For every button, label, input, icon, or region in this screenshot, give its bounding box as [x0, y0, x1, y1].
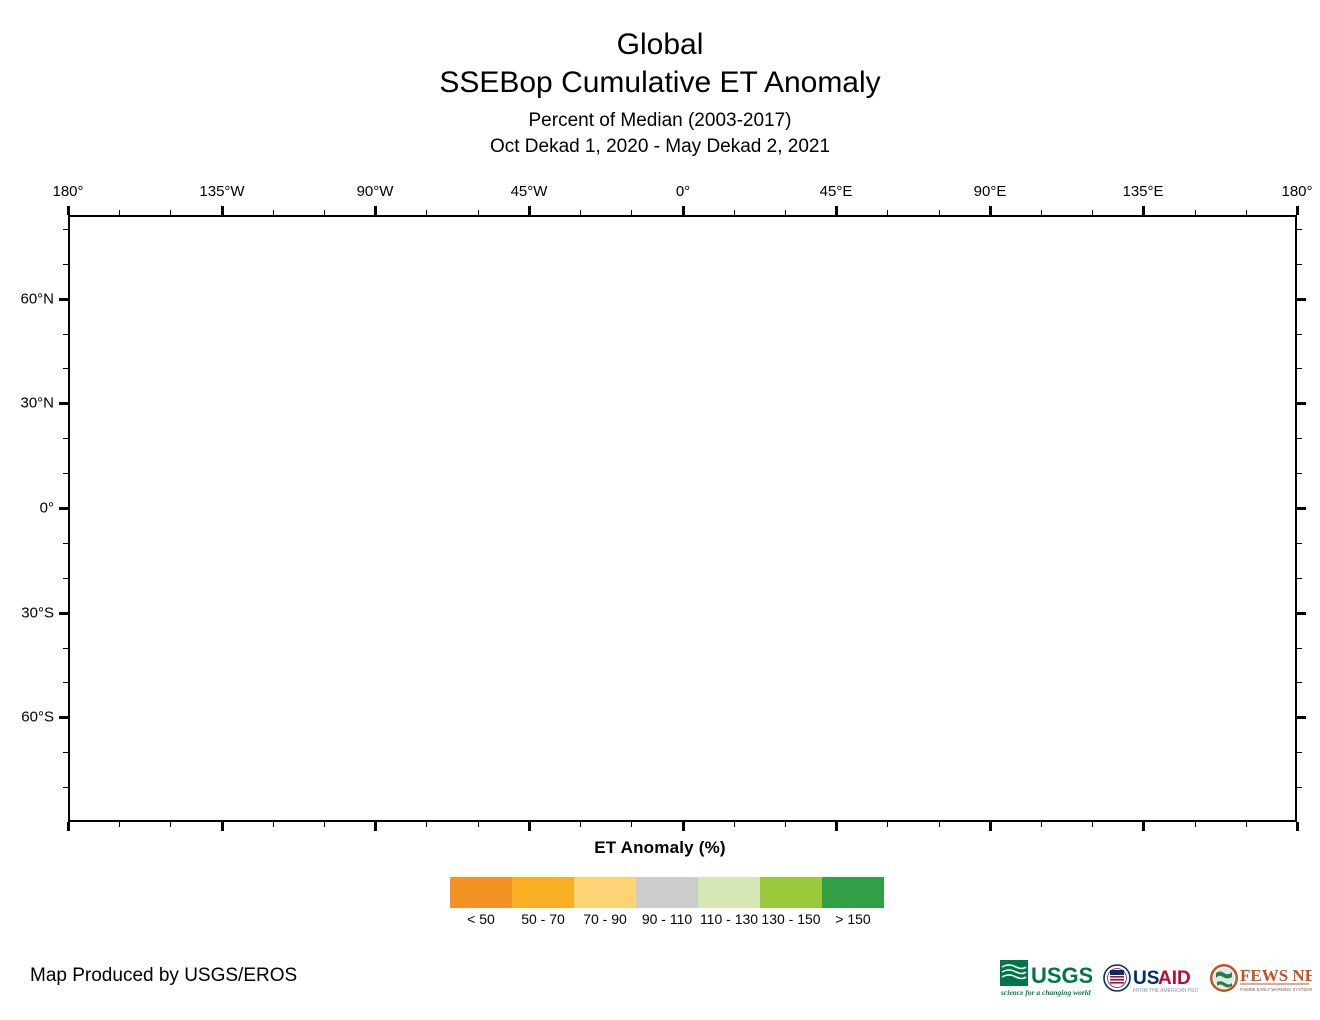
axis-tick-major [682, 822, 685, 831]
page-subtitle: SSEBop Cumulative ET Anomaly [0, 64, 1320, 102]
legend-swatch-1 [512, 877, 574, 908]
axis-tick-minor [734, 822, 735, 827]
axis-tick-minor [1195, 822, 1196, 827]
svg-text:US: US [1133, 968, 1159, 989]
axis-tick-minor [119, 822, 120, 827]
legend-label-row: < 5050 - 7070 - 9090 - 110110 - 130130 -… [450, 911, 884, 927]
legend-title: ET Anomaly (%) [0, 838, 1320, 858]
page-title: Global [0, 26, 1320, 64]
axis-tick-minor [1297, 334, 1302, 335]
latitude-label: 60°N [20, 291, 54, 308]
axis-tick-major [1297, 716, 1306, 719]
axis-tick-minor [170, 822, 171, 827]
axis-tick-minor [1297, 648, 1302, 649]
axis-tick-minor [1297, 578, 1302, 579]
axis-tick-minor [785, 822, 786, 827]
latitude-label: 0° [40, 500, 54, 517]
legend-swatch-6 [822, 877, 884, 908]
longitude-label: 45°W [511, 183, 548, 200]
axis-tick-major [682, 206, 685, 215]
axis-tick-major [1142, 206, 1145, 215]
axis-tick-minor [1297, 368, 1302, 369]
axis-tick-minor [1041, 822, 1042, 827]
axis-tick-minor [631, 822, 632, 827]
usaid-logo: US AID FROM THE AMERICAN PEOPLE [1102, 957, 1198, 1001]
legend-label-5: 130 - 150 [760, 911, 822, 927]
axis-tick-minor [1092, 822, 1093, 827]
axis-tick-minor [1297, 264, 1302, 265]
axis-tick-major [67, 822, 70, 831]
axis-tick-major [374, 206, 377, 215]
axis-tick-major [59, 612, 68, 615]
axis-tick-minor [887, 822, 888, 827]
longitude-label: 90°E [974, 183, 1007, 200]
svg-text:FEWS NET: FEWS NET [1240, 966, 1312, 985]
logo-row: USGS science for a changing world US AID… [1000, 955, 1300, 1003]
usgs-logo: USGS science for a changing world [1000, 957, 1092, 1001]
latitude-label: 30°S [21, 605, 54, 622]
subtitle-dates: Oct Dekad 1, 2020 - May Dekad 2, 2021 [0, 134, 1320, 160]
longitude-label: 180° [52, 183, 83, 200]
axis-tick-major [835, 206, 838, 215]
legend-label-4: 110 - 130 [698, 911, 760, 927]
axis-tick-major [59, 716, 68, 719]
axis-tick-major [1297, 298, 1306, 301]
legend-swatch-0 [450, 877, 512, 908]
axis-tick-minor [1297, 438, 1302, 439]
axis-tick-major [1296, 206, 1299, 215]
latitude-label: 60°S [21, 709, 54, 726]
usaid-logo-icon: US AID FROM THE AMERICAN PEOPLE [1102, 958, 1198, 1000]
axis-tick-minor [478, 822, 479, 827]
legend-swatch-4 [698, 877, 760, 908]
longitude-label: 135°E [1122, 183, 1163, 200]
axis-tick-major [1297, 402, 1306, 405]
axis-tick-major [989, 206, 992, 215]
fews-net-logo: FEWS NET FAMINE EARLY WARNING SYSTEMS NE… [1208, 957, 1312, 1001]
legend-swatch-3 [636, 877, 698, 908]
axis-tick-major [59, 507, 68, 510]
axis-tick-minor [1297, 752, 1302, 753]
legend-swatch-5 [760, 877, 822, 908]
axis-tick-minor [1297, 473, 1302, 474]
legend: ET Anomaly (%) [0, 838, 1320, 858]
longitude-label: 45°E [820, 183, 853, 200]
legend-label-2: 70 - 90 [574, 911, 636, 927]
axis-tick-minor [324, 822, 325, 827]
fews-net-logo-icon: FEWS NET FAMINE EARLY WARNING SYSTEMS NE… [1208, 958, 1312, 1000]
axis-tick-minor [426, 822, 427, 827]
axis-tick-major [59, 402, 68, 405]
svg-text:USGS: USGS [1031, 963, 1092, 988]
legend-label-3: 90 - 110 [636, 911, 698, 927]
legend-label-0: < 50 [450, 911, 512, 927]
axis-tick-minor [1246, 822, 1247, 827]
axis-tick-minor [1297, 229, 1302, 230]
longitude-label: 0° [676, 183, 690, 200]
svg-text:FAMINE EARLY WARNING SYSTEMS N: FAMINE EARLY WARNING SYSTEMS NETWORK [1240, 987, 1312, 992]
axis-tick-minor [939, 822, 940, 827]
axis-tick-minor [1297, 682, 1302, 683]
axis-tick-major [67, 206, 70, 215]
map-container[interactable]: 180°135°W90°W45°W0°45°E90°E135°E180°60°N… [68, 215, 1297, 822]
longitude-label: 135°W [199, 183, 244, 200]
legend-swatch-2 [574, 877, 636, 908]
title-block: Global SSEBop Cumulative ET Anomaly Perc… [0, 0, 1320, 160]
axis-tick-minor [1297, 787, 1302, 788]
svg-text:science for a changing world: science for a changing world [1000, 988, 1091, 997]
axis-tick-major [835, 822, 838, 831]
axis-tick-major [1142, 822, 1145, 831]
axis-tick-major [374, 822, 377, 831]
axis-tick-major [59, 298, 68, 301]
axis-tick-minor [580, 822, 581, 827]
axis-tick-major [1297, 507, 1306, 510]
subtitle-period: Percent of Median (2003-2017) [0, 108, 1320, 134]
axis-tick-minor [1297, 543, 1302, 544]
axis-tick-major [1297, 612, 1306, 615]
svg-text:FROM THE AMERICAN PEOPLE: FROM THE AMERICAN PEOPLE [1133, 988, 1198, 994]
axis-tick-minor [273, 822, 274, 827]
map-credit: Map Produced by USGS/EROS [30, 965, 297, 987]
longitude-label: 180° [1281, 183, 1312, 200]
longitude-label: 90°W [357, 183, 394, 200]
legend-label-1: 50 - 70 [512, 911, 574, 927]
axis-tick-major [221, 206, 224, 215]
axis-tick-major [989, 822, 992, 831]
legend-label-6: > 150 [822, 911, 884, 927]
axis-tick-major [221, 822, 224, 831]
axis-tick-major [528, 822, 531, 831]
latitude-label: 30°N [20, 395, 54, 412]
axis-tick-major [1296, 822, 1299, 831]
usgs-logo-icon: USGS science for a changing world [1000, 958, 1092, 1000]
svg-text:AID: AID [1158, 968, 1191, 989]
map-frame-border [68, 215, 1297, 822]
legend-color-bar [450, 877, 884, 908]
axis-tick-major [528, 206, 531, 215]
